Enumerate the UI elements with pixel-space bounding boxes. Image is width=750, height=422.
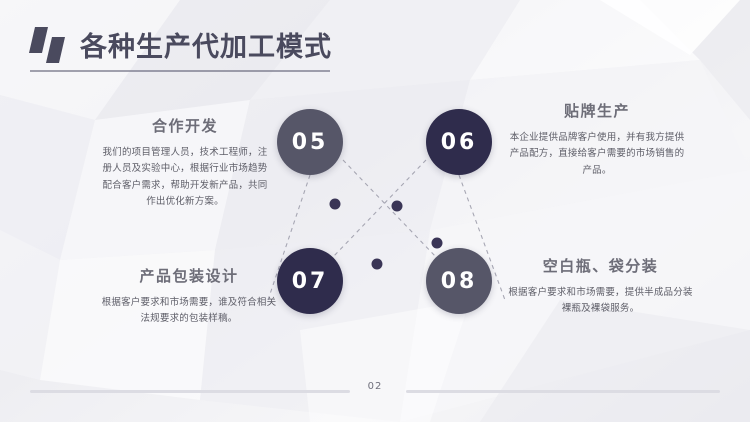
node-circle-07[interactable]: 07: [277, 248, 343, 314]
connector-dots: [330, 199, 443, 270]
connector-dot-right: [432, 238, 443, 249]
content-block-blank-bottle-bag: 空白瓶、袋分装 根据客户要求和市场需要，提供半成品分装裸瓶及裸袋服务。: [508, 255, 693, 318]
block-heading-c: 产品包装设计: [100, 265, 278, 286]
connector-dot-left: [330, 199, 341, 210]
block-body-b: 本企业提供品牌客户使用，并有我方提供产品配方，直接给客户需要的市场销售的产品。: [508, 130, 686, 179]
connector-dot-bottom: [372, 259, 383, 270]
slide-canvas: 各种生产代加工模式 05 06 07 08 合作开发 我们的项目管理人员，技术工…: [0, 0, 750, 422]
content-block-cooperative-development: 合作开发 我们的项目管理人员，技术工程师，注册人员及实验中心，根据行业市场趋势配…: [100, 115, 270, 210]
node-label-05: 05: [292, 130, 329, 155]
block-body-c: 根据客户要求和市场需要，谁及符合相关法规要求的包装样稿。: [100, 295, 278, 328]
block-heading-d: 空白瓶、袋分装: [508, 255, 693, 276]
content-block-oem-production: 贴牌生产 本企业提供品牌客户使用，并有我方提供产品配方，直接给客户需要的市场销售…: [508, 100, 686, 179]
node-label-08: 08: [441, 269, 478, 294]
block-heading-a: 合作开发: [100, 115, 270, 136]
node-label-07: 07: [292, 269, 329, 294]
block-body-a: 我们的项目管理人员，技术工程师，注册人员及实验中心，根据行业市场趋势配合客户需求…: [100, 145, 270, 210]
block-heading-b: 贴牌生产: [508, 100, 686, 121]
block-body-d: 根据客户要求和市场需要，提供半成品分装裸瓶及裸袋服务。: [508, 285, 693, 318]
footer-rule-right: [406, 390, 720, 393]
node-circle-08[interactable]: 08: [426, 248, 492, 314]
node-label-06: 06: [441, 130, 478, 155]
connector-network: [0, 0, 750, 422]
slide-footer: 02: [0, 381, 750, 401]
content-block-package-design: 产品包装设计 根据客户要求和市场需要，谁及符合相关法规要求的包装样稿。: [100, 265, 278, 328]
node-circle-06[interactable]: 06: [426, 109, 492, 175]
connector-dot-top: [392, 201, 403, 212]
node-circle-05[interactable]: 05: [277, 109, 343, 175]
